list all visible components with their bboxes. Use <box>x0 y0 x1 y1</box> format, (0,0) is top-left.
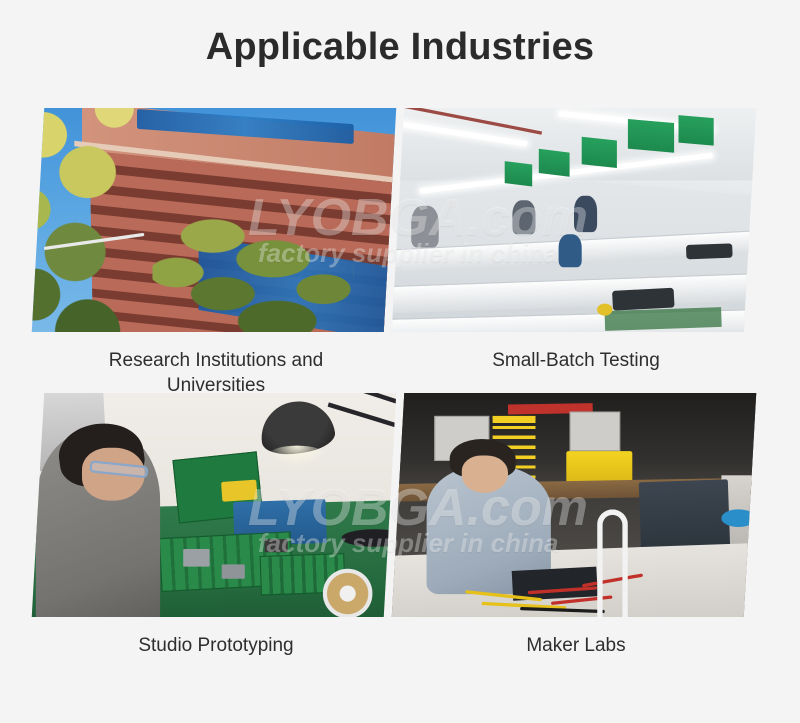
maker-photo-content <box>392 393 757 617</box>
lab-worker <box>558 235 581 267</box>
yellow-storage-bin <box>566 451 632 483</box>
industry-card-caption: Maker Labs <box>400 633 752 658</box>
bga-chip <box>222 564 245 579</box>
studio-photo-content <box>32 393 397 617</box>
studio-prototyping-photo <box>32 393 397 617</box>
foreground-tree <box>152 205 353 332</box>
lab-green-sign-panel <box>582 137 617 168</box>
industries-row-1: Research Institutions and Universities <box>0 108 800 393</box>
lab-worker <box>512 200 535 234</box>
lab-equipment <box>686 244 733 260</box>
industries-row-2: Studio Prototyping <box>0 393 800 678</box>
lab-green-sign-panel <box>504 162 531 187</box>
lab-green-sign-panel <box>539 149 570 177</box>
left-foliage <box>32 108 168 332</box>
building-photo-content <box>32 108 397 332</box>
lab-worker <box>411 205 438 247</box>
lab-equipment <box>612 287 675 310</box>
industry-card-studio-prototyping[interactable]: Studio Prototyping <box>38 393 400 658</box>
industry-card-research-institutions[interactable]: Research Institutions and Universities <box>38 108 400 398</box>
lab-green-sign-panel <box>628 119 674 153</box>
lab-worker <box>574 195 597 232</box>
page-title: Applicable Industries <box>0 26 800 69</box>
industry-card-caption: Studio Prototyping <box>40 633 392 658</box>
applicable-industries-page: Applicable Industries <box>0 0 800 723</box>
maker-lab-photo <box>392 393 757 617</box>
shelf-cabinet <box>570 411 620 450</box>
bga-chip <box>183 549 210 566</box>
industry-card-caption: Research Institutions and Universities <box>40 348 392 398</box>
lab-photo-content <box>392 108 757 332</box>
white-metal-loop <box>597 510 628 617</box>
industry-card-caption: Small-Batch Testing <box>400 348 752 373</box>
blue-tape-roll <box>721 510 756 527</box>
bga-chip <box>264 539 287 551</box>
maker-face <box>462 456 508 493</box>
solder-wire-spool <box>322 569 372 617</box>
small-batch-testing-lab-photo <box>392 108 757 332</box>
lab-green-sign-panel <box>679 115 714 145</box>
industry-card-small-batch-testing[interactable]: Small-Batch Testing <box>398 108 760 373</box>
industry-card-maker-labs[interactable]: Maker Labs <box>398 393 760 658</box>
research-institute-building-photo <box>32 108 397 332</box>
lab-green-mat <box>605 307 722 331</box>
industries-grid: Research Institutions and Universities <box>0 108 800 678</box>
yellow-tool <box>221 479 257 501</box>
